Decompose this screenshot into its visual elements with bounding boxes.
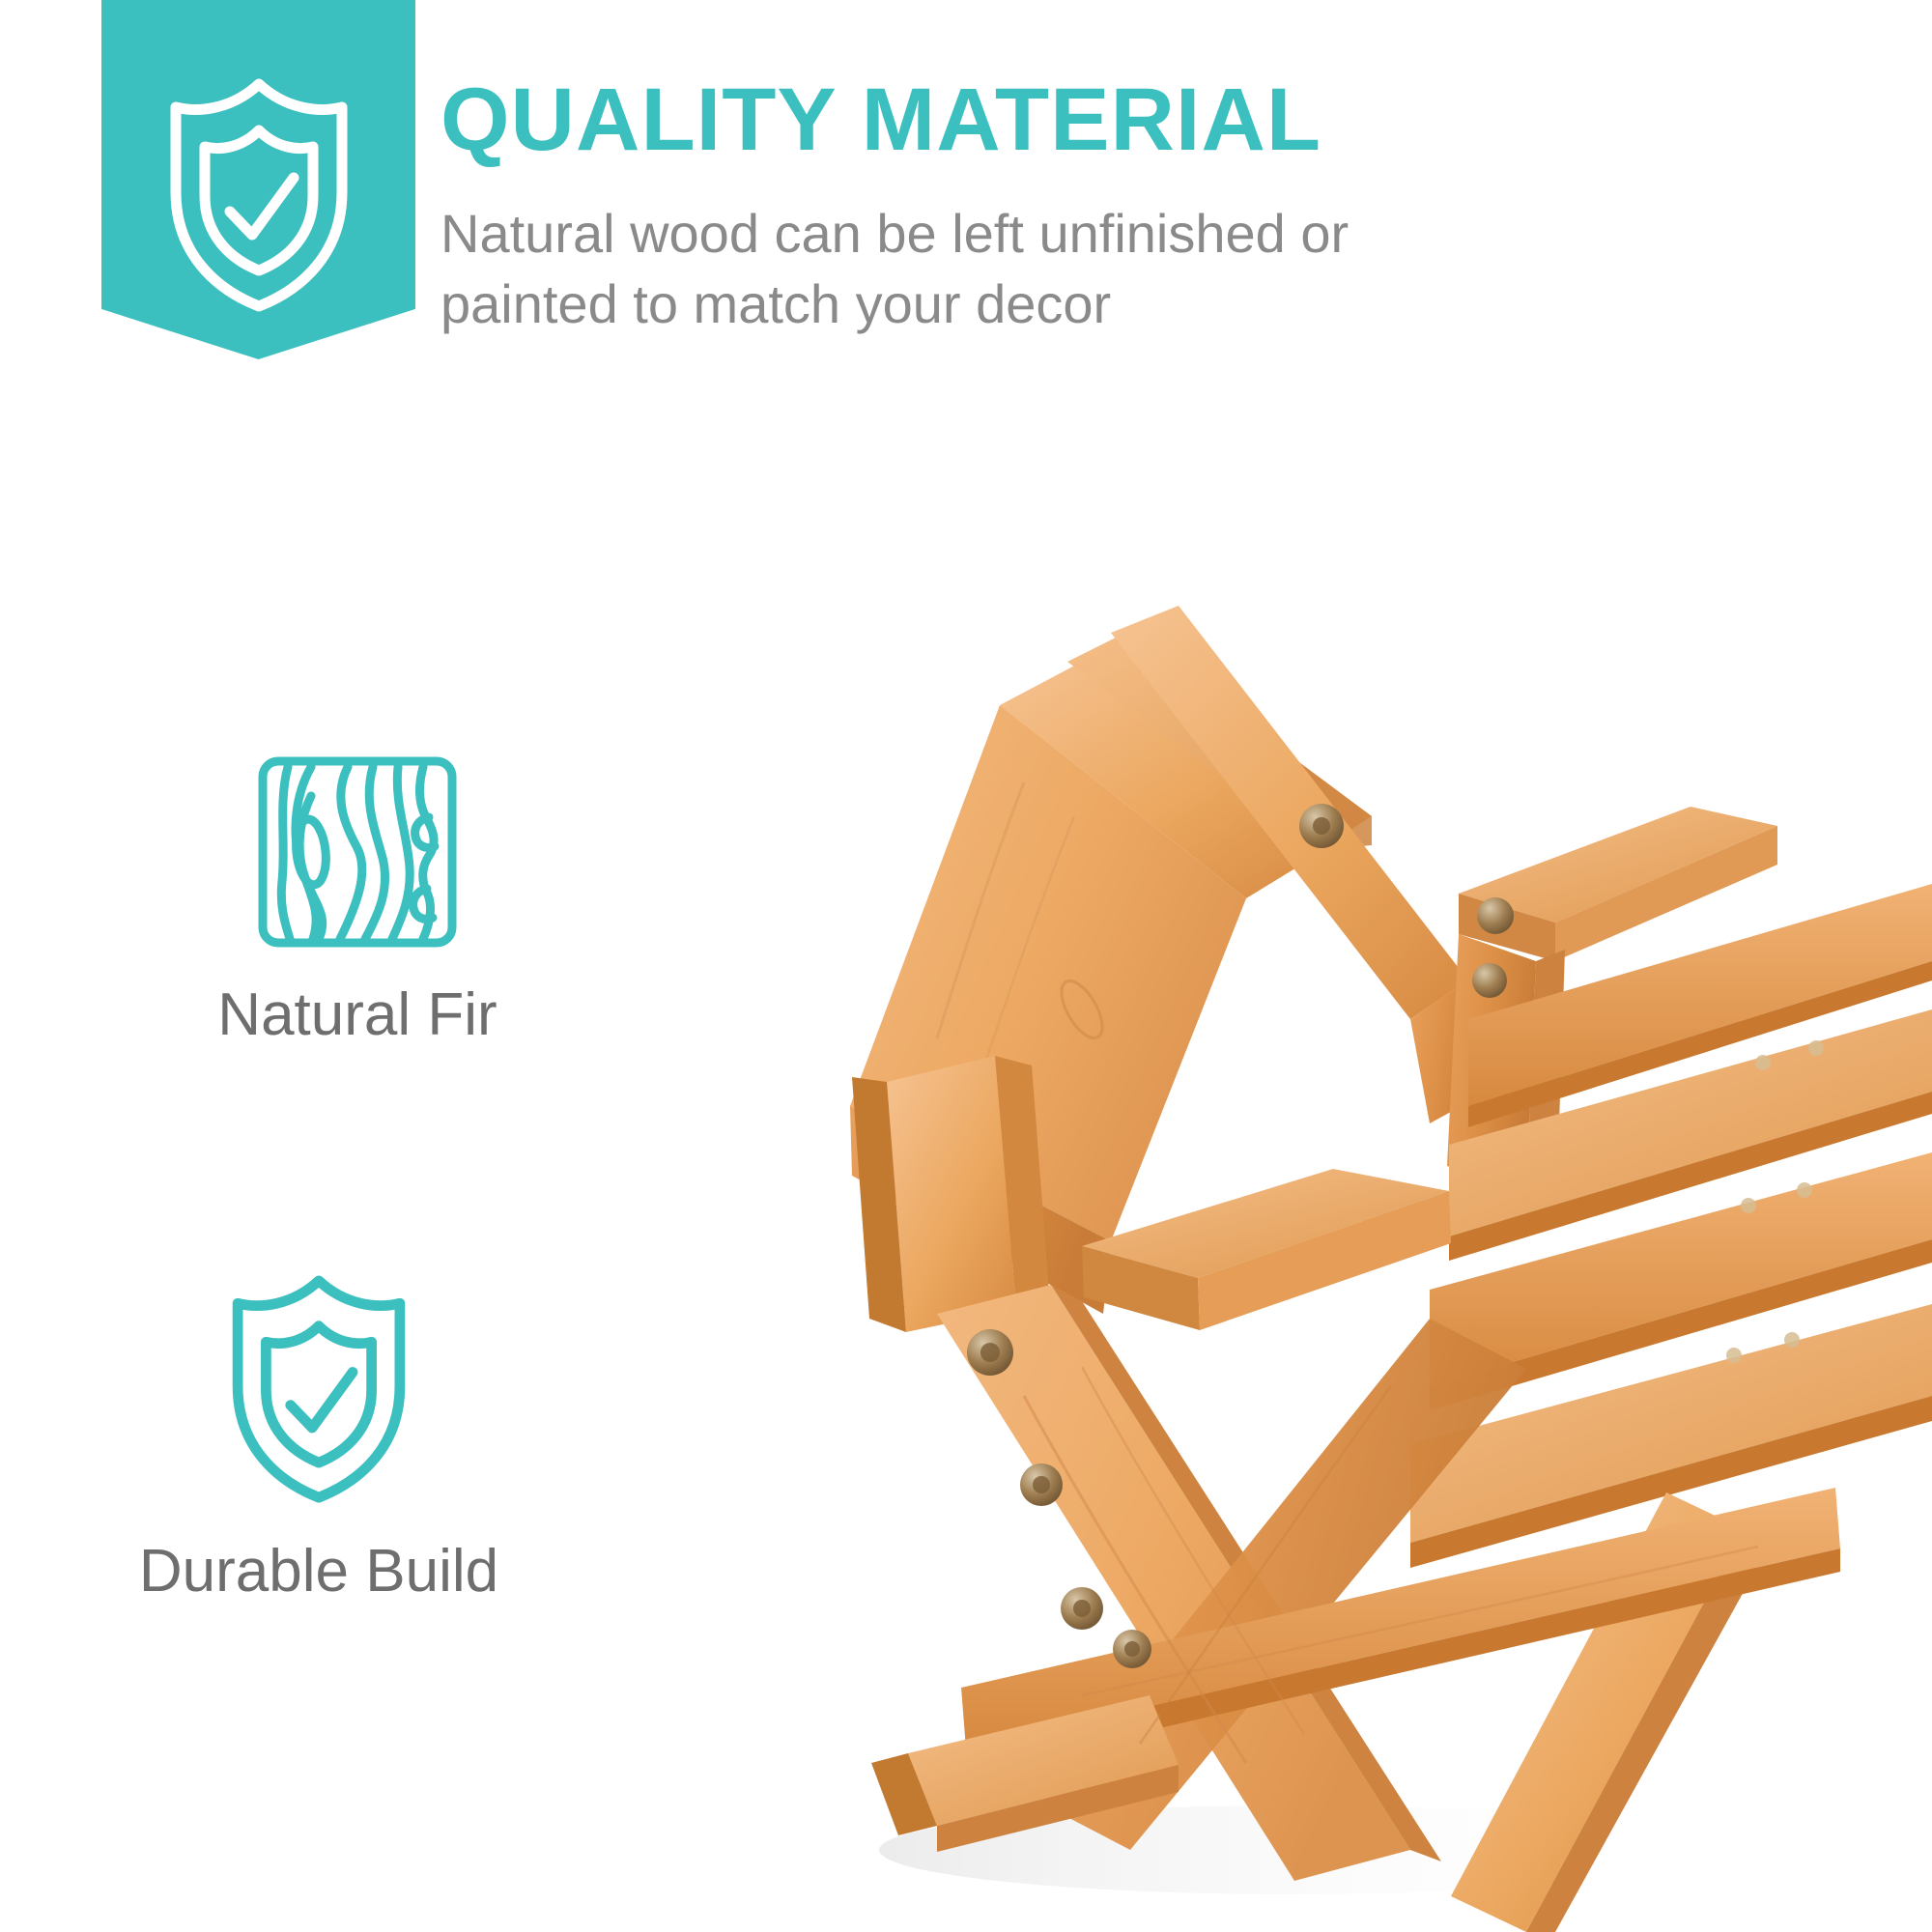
feature-label: Natural Fir bbox=[217, 985, 497, 1045]
page-title: QUALITY MATERIAL bbox=[440, 75, 1793, 166]
wood-grain-icon bbox=[257, 755, 458, 949]
feature-durable-build: Durable Build bbox=[19, 1273, 618, 1602]
product-photo bbox=[792, 343, 1932, 1932]
header-text-group: QUALITY MATERIAL Natural wood can be lef… bbox=[440, 75, 1793, 339]
shield-check-icon bbox=[101, 70, 415, 321]
page-subtitle: Natural wood can be left unfinished or p… bbox=[440, 199, 1406, 340]
shield-check-icon bbox=[217, 1273, 420, 1505]
feature-label: Durable Build bbox=[139, 1542, 498, 1602]
feature-natural-fir: Natural Fir bbox=[58, 755, 657, 1045]
